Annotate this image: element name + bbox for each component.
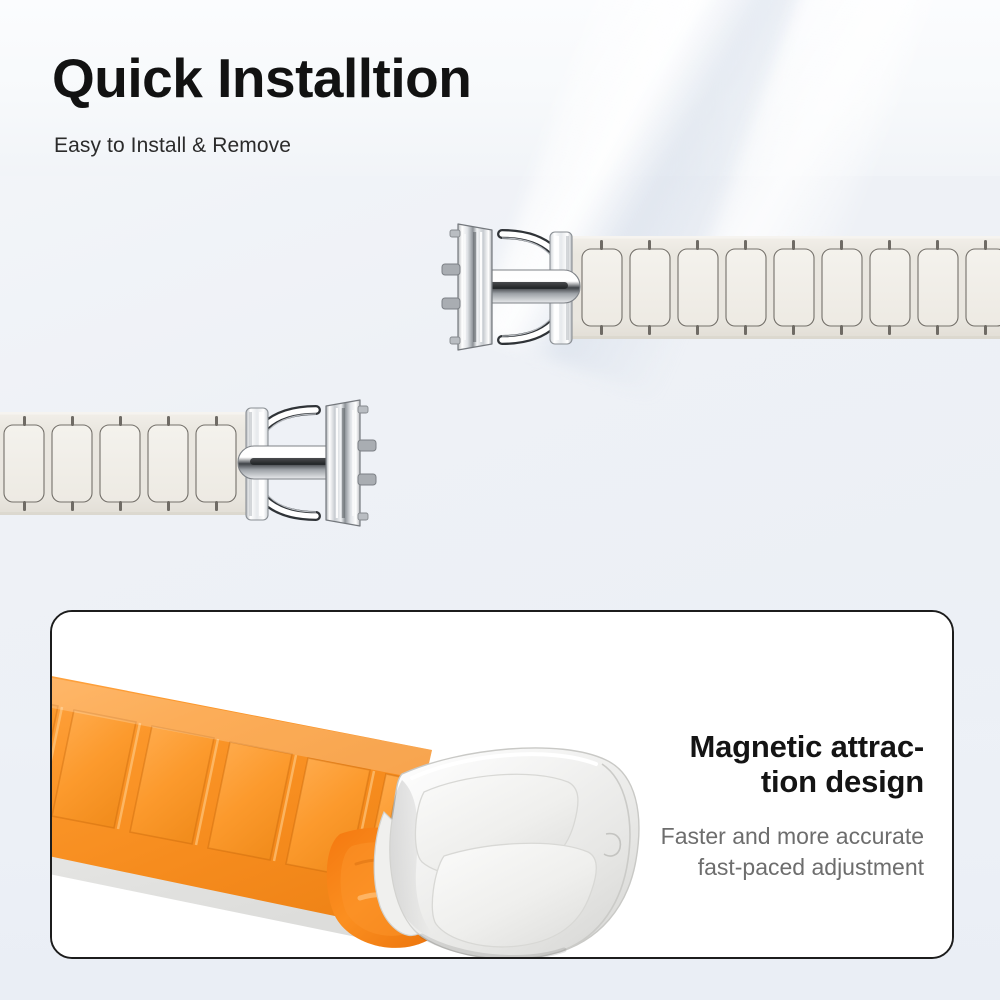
feature-title-line-2: tion design [574, 765, 924, 800]
lower-watch-band-diagram [0, 388, 378, 540]
band-segments [582, 249, 1000, 326]
feature-title-line-1: Magnetic attrac- [574, 730, 924, 765]
product-marketing-image: Quick Installtion Easy to Install & Remo… [0, 0, 1000, 1000]
page-title: Quick Installtion [52, 50, 471, 108]
feature-subtitle-line-1: Faster and more accurate [574, 821, 924, 851]
feature-subtitle-line-2: fast-paced adjustment [574, 852, 924, 882]
feature-caption: Magnetic attrac- tion design Faster and … [574, 730, 924, 882]
page-subtitle: Easy to Install & Remove [54, 134, 291, 158]
clasp-connector-block [326, 400, 376, 526]
feature-subtitle: Faster and more accurate fast-paced adju… [574, 821, 924, 882]
upper-watch-band-diagram [440, 212, 1000, 362]
band-segments [4, 425, 236, 502]
clasp-connector-block [442, 224, 492, 350]
photo-stage: Magnetic attrac- tion design Faster and … [52, 612, 952, 957]
feature-panel: Magnetic attrac- tion design Faster and … [50, 610, 954, 959]
product-photo-orange-band [50, 610, 660, 959]
feature-title: Magnetic attrac- tion design [574, 730, 924, 799]
